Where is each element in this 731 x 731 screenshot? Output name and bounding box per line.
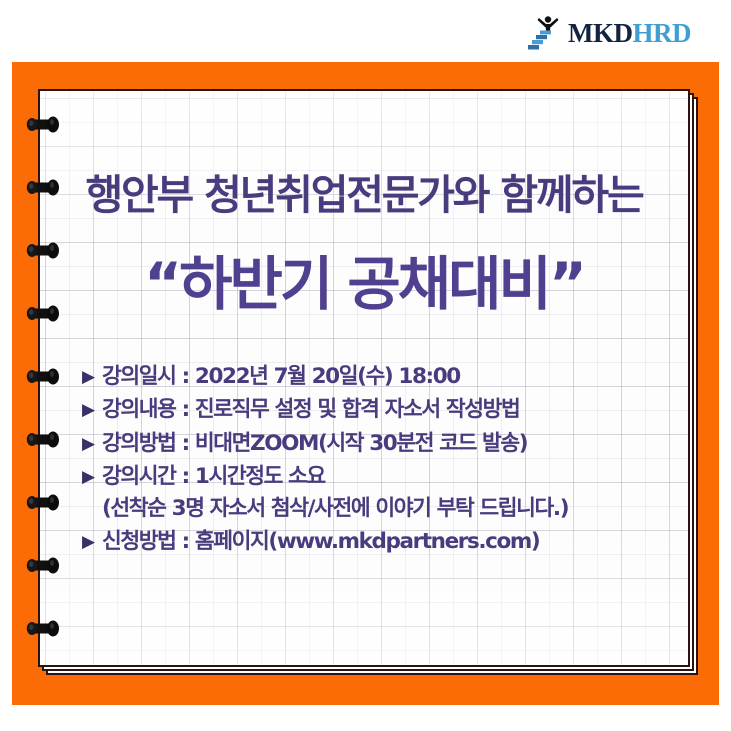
detail-text: 신청방법 : 홈페이지(www.mkdpartners.com) [102, 528, 539, 556]
binding-ring [26, 619, 64, 638]
detail-list: ▶강의일시 : 2022년 7월 20일(수) 18:00▶강의내용 : 진로직… [82, 363, 682, 561]
detail-text: 강의내용 : 진로직무 설정 및 합격 자소서 작성방법 [102, 396, 519, 424]
brand-logo: MKDHRD [526, 13, 691, 53]
bullet-arrow-icon: ▶ [82, 369, 102, 386]
page-title: 행안부 청년취업전문가와 함께하는 [38, 161, 690, 221]
brand-wordmark: MKDHRD [568, 20, 691, 47]
binding-ring [26, 556, 64, 575]
page-subtitle: “하반기 공채대비” [38, 237, 690, 321]
detail-text: 강의방법 : 비대면ZOOM(시작 30분전 코드 발송) [102, 430, 527, 458]
bullet-arrow-icon: ▶ [82, 402, 102, 419]
detail-row: ▶신청방법 : 홈페이지(www.mkdpartners.com) [82, 528, 682, 556]
detail-row: ▶강의내용 : 진로직무 설정 및 합격 자소서 작성방법 [82, 396, 682, 424]
binding-ring [26, 115, 64, 134]
binding-ring [26, 430, 64, 449]
detail-row: ▶강의시간 : 1시간정도 소요 [82, 463, 682, 491]
bullet-arrow-icon: ▶ [82, 534, 102, 551]
detail-row: (선착순 3명 자소서 첨삭/사전에 이야기 부탁 드립니다.) [82, 495, 682, 523]
detail-row: ▶강의방법 : 비대면ZOOM(시작 30분전 코드 발송) [82, 430, 682, 458]
brand-name-primary: MKD [568, 18, 632, 48]
brand-name-secondary: HRD [633, 18, 692, 48]
binding-ring [26, 367, 64, 386]
poster-canvas: MKDHRD 행안부 청년취업전문가와 함께하는 “하반기 공채대비” ▶강의일… [0, 0, 731, 731]
bullet-arrow-icon: ▶ [82, 436, 102, 453]
detail-text: 강의일시 : 2022년 7월 20일(수) 18:00 [102, 363, 460, 391]
bullet-arrow-icon: ▶ [82, 469, 102, 486]
binding-ring [26, 241, 64, 260]
binding-ring [26, 493, 64, 512]
binding-rings [0, 89, 80, 667]
detail-text: 강의시간 : 1시간정도 소요 [102, 463, 325, 491]
poster-content: 행안부 청년취업전문가와 함께하는 “하반기 공채대비” ▶강의일시 : 202… [38, 89, 690, 667]
header-bar: MKDHRD [0, 0, 731, 62]
detail-row: ▶강의일시 : 2022년 7월 20일(수) 18:00 [82, 363, 682, 391]
binding-ring [26, 178, 64, 197]
binding-ring [26, 304, 64, 323]
detail-text: (선착순 3명 자소서 첨삭/사전에 이야기 부탁 드립니다.) [102, 495, 568, 523]
person-on-steps-icon [526, 14, 566, 52]
